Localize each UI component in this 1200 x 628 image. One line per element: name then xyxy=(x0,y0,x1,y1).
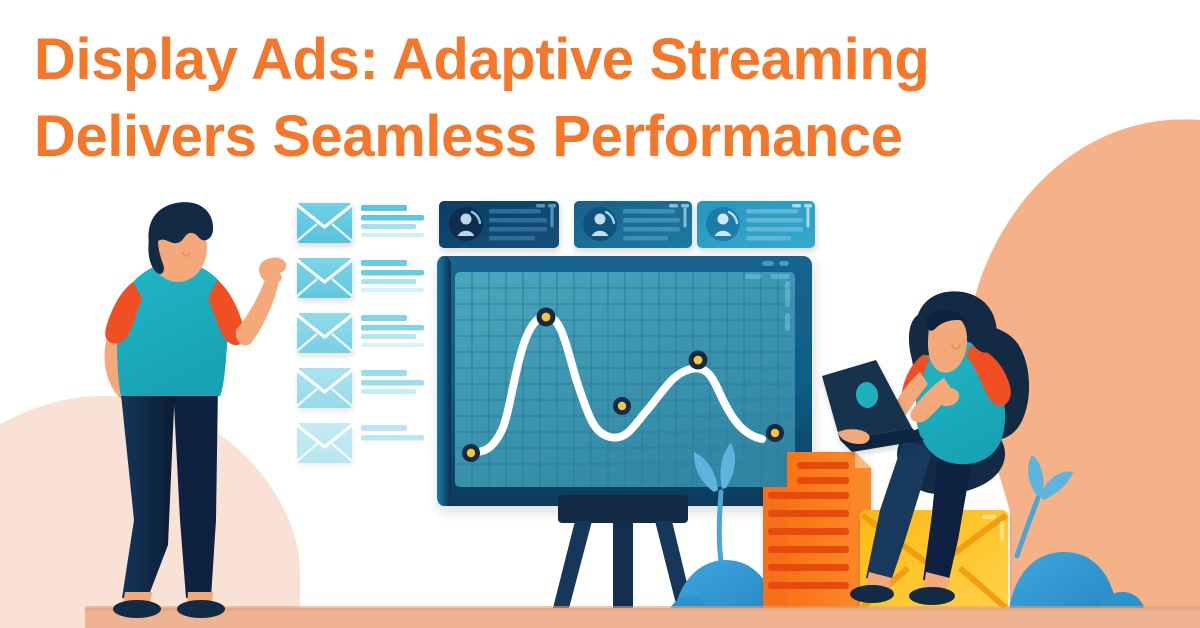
data-point xyxy=(689,351,708,370)
data-point xyxy=(613,397,631,415)
shoe-left xyxy=(113,600,161,618)
floor-shadow xyxy=(85,606,1200,611)
data-point xyxy=(537,308,556,327)
profile-cards xyxy=(439,201,815,248)
profile-card-2 xyxy=(574,201,692,248)
list-line xyxy=(361,425,407,431)
list-item xyxy=(297,368,424,408)
data-point xyxy=(462,444,480,462)
shoe-back xyxy=(850,585,894,603)
envelope-icon xyxy=(297,313,352,353)
email-list xyxy=(297,203,424,463)
envelope-icon xyxy=(297,203,352,243)
list-line xyxy=(361,288,424,292)
envelope-icon xyxy=(297,258,352,298)
list-line xyxy=(361,260,407,266)
list-line xyxy=(361,334,416,339)
list-line xyxy=(361,435,424,441)
presentation-board xyxy=(437,256,812,506)
list-item xyxy=(297,313,424,353)
arm-right xyxy=(236,276,279,346)
shoe-right xyxy=(177,600,225,618)
hair xyxy=(148,202,213,245)
list-line xyxy=(361,205,407,211)
tripod-easel-stand xyxy=(552,495,694,612)
profile-card-3 xyxy=(697,201,815,248)
board-frame-edge xyxy=(437,256,451,506)
list-line xyxy=(361,325,424,331)
list-item xyxy=(297,203,424,243)
list-line xyxy=(361,279,416,284)
list-line xyxy=(361,380,424,386)
list-line xyxy=(361,389,416,394)
torso-shirt xyxy=(117,262,228,396)
list-line xyxy=(361,370,407,376)
banner-root: Display Ads: Adaptive Streaming Delivers… xyxy=(0,0,1200,628)
list-line xyxy=(361,315,407,321)
envelope-icon xyxy=(297,368,352,408)
list-line xyxy=(361,215,424,221)
shoe-front xyxy=(909,587,955,605)
illustration-canvas xyxy=(0,0,1200,628)
list-line xyxy=(361,343,424,347)
profile-card-1 xyxy=(439,201,559,248)
hand-right xyxy=(259,258,286,283)
list-line xyxy=(361,270,424,276)
chart-grid xyxy=(455,272,795,487)
envelope-icon xyxy=(297,423,352,463)
list-line xyxy=(361,224,416,229)
list-line xyxy=(361,233,424,237)
list-item xyxy=(297,258,424,298)
data-point xyxy=(766,424,784,442)
list-item xyxy=(297,423,424,463)
